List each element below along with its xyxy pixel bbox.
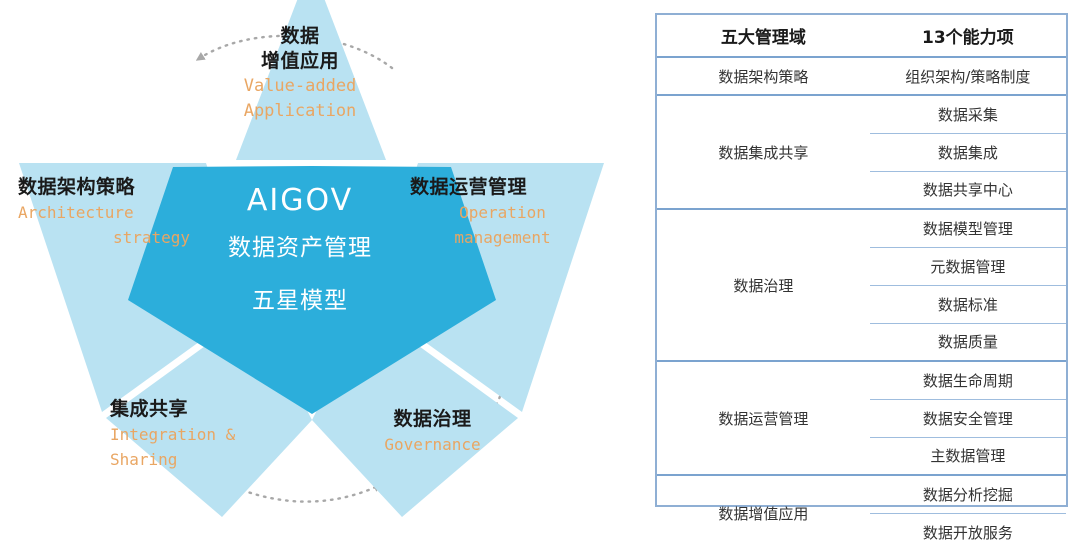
capability-item-cell: 数据质量 [870, 323, 1066, 361]
label-cn-line-1: 数据架构策略 [18, 174, 190, 200]
table-row: 数据集成共享数据采集 [657, 95, 1066, 133]
label-en-line-2: Application [205, 99, 395, 124]
label-en-line-1: Integration & [110, 422, 295, 447]
center-line-2: 五星模型 [200, 275, 400, 328]
star-label-governance: 数据治理 Governance [345, 406, 520, 457]
capability-item-cell: 数据采集 [870, 95, 1066, 133]
table-row: 数据运营管理数据生命周期 [657, 361, 1066, 399]
domain-cell: 数据架构策略 [657, 57, 870, 95]
domain-cell: 数据集成共享 [657, 95, 870, 209]
table-header-row: 五大管理域 13个能力项 [657, 15, 1066, 57]
label-cn-line-1: 数据治理 [345, 406, 520, 432]
capability-item-cell: 数据开放服务 [870, 513, 1066, 551]
star-label-value-added-application: 数据 增值应用 Value-added Application [205, 24, 395, 124]
capability-item-cell: 元数据管理 [870, 247, 1066, 285]
capability-item-cell: 数据模型管理 [870, 209, 1066, 247]
table-body: 数据架构策略组织架构/策略制度数据集成共享数据采集数据集成数据共享中心数据治理数… [657, 57, 1066, 551]
capability-item-cell: 数据安全管理 [870, 399, 1066, 437]
header-management-domain: 五大管理域 [657, 15, 870, 57]
table-row: 数据架构策略组织架构/策略制度 [657, 57, 1066, 95]
center-pentagon-text: AIGOV 数据资产管理 五星模型 [200, 180, 400, 328]
label-cn-line-1: 集成共享 [110, 396, 295, 422]
capability-table: 五大管理域 13个能力项 数据架构策略组织架构/策略制度数据集成共享数据采集数据… [657, 15, 1066, 551]
table-header: 五大管理域 13个能力项 [657, 15, 1066, 57]
star-model-diagram: AIGOV 数据资产管理 五星模型 数据 增值应用 Value-added Ap… [0, 0, 640, 520]
capability-item-cell: 数据分析挖掘 [870, 475, 1066, 513]
capability-item-cell: 数据生命周期 [870, 361, 1066, 399]
label-en-line-2: strategy [18, 225, 190, 250]
domain-cell: 数据增值应用 [657, 475, 870, 551]
label-cn-line-1: 数据运营管理 [410, 174, 595, 200]
star-label-architecture-strategy: 数据架构策略 Architecture strategy [18, 174, 190, 250]
label-en-line-1: Operation [410, 200, 595, 225]
star-label-operation-management: 数据运营管理 Operation management [410, 174, 595, 250]
label-cn-line-2: 增值应用 [205, 49, 395, 74]
capability-item-cell: 组织架构/策略制度 [870, 57, 1066, 95]
header-capability-item: 13个能力项 [870, 15, 1066, 57]
label-en-line-2: Sharing [110, 447, 295, 472]
table-row: 数据治理数据模型管理 [657, 209, 1066, 247]
label-en-line-1: Value-added [205, 74, 395, 99]
capability-item-cell: 数据共享中心 [870, 171, 1066, 209]
domain-cell: 数据运营管理 [657, 361, 870, 475]
label-en-line-1: Architecture [18, 200, 190, 225]
capability-item-cell: 数据标准 [870, 285, 1066, 323]
domain-cell: 数据治理 [657, 209, 870, 361]
brand-name: AIGOV [200, 180, 400, 222]
star-label-integration-sharing: 集成共享 Integration & Sharing [110, 396, 295, 472]
label-en-line-1: Governance [345, 432, 520, 457]
capability-table-container: 五大管理域 13个能力项 数据架构策略组织架构/策略制度数据集成共享数据采集数据… [655, 13, 1068, 507]
center-line-1: 数据资产管理 [200, 222, 400, 275]
label-en-line-2: management [410, 225, 595, 250]
capability-item-cell: 数据集成 [870, 133, 1066, 171]
table-row: 数据增值应用数据分析挖掘 [657, 475, 1066, 513]
capability-item-cell: 主数据管理 [870, 437, 1066, 475]
label-cn-line-1: 数据 [205, 24, 395, 49]
